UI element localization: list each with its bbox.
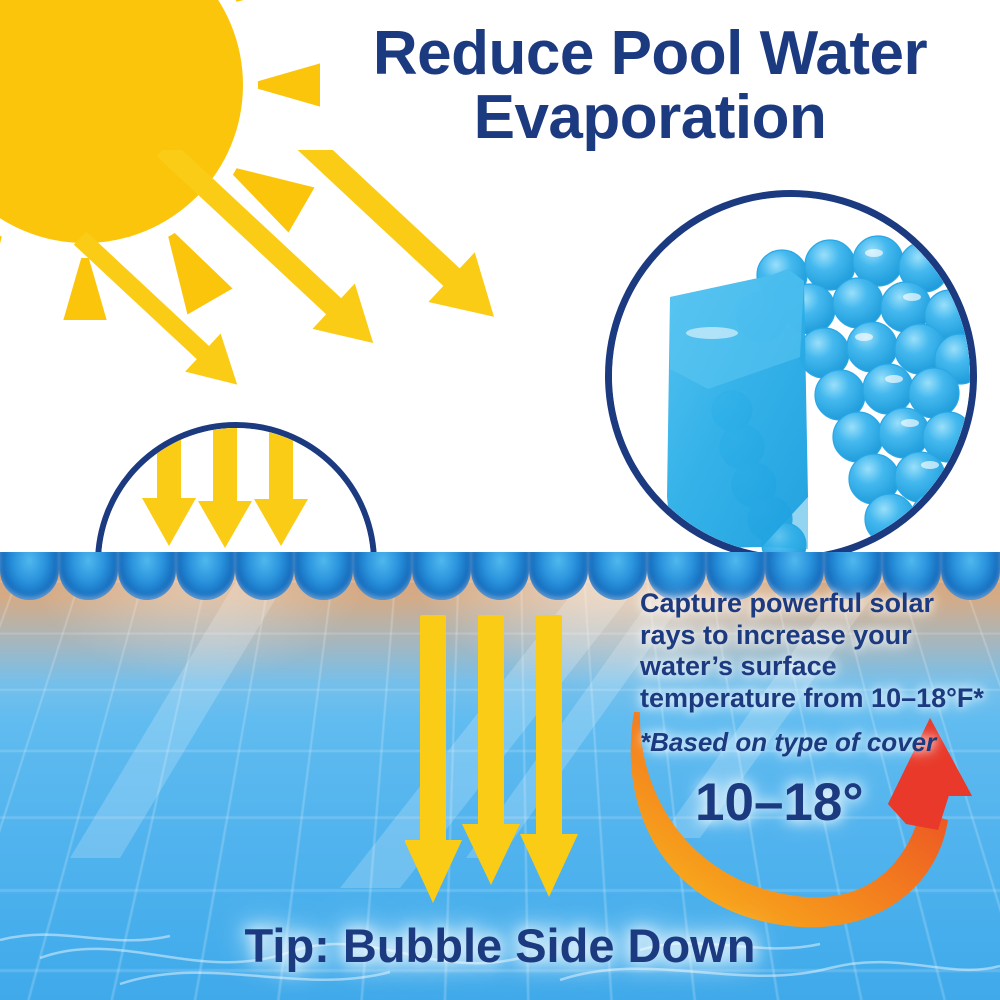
temperature-increase-value: 10–18° (695, 772, 895, 833)
surface-bubble (471, 552, 530, 600)
surface-bubble (0, 552, 59, 600)
surface-bubble (235, 552, 294, 600)
page-title: Reduce Pool Water Evaporation (300, 22, 1000, 151)
surface-bubble (353, 552, 412, 600)
solar-bubble-cover-photo-circle (605, 190, 977, 562)
vertical-heat-down-arrows (405, 615, 605, 915)
surface-bubble (294, 552, 353, 600)
copy-footnote: *Based on type of cover (640, 727, 990, 758)
surface-bubble (412, 552, 471, 600)
page-title-line-1: Reduce Pool Water (373, 19, 927, 88)
tip-banner-text: Tip: Bubble Side Down (0, 918, 1000, 973)
surface-bubble (588, 552, 647, 600)
surface-bubble (529, 552, 588, 600)
surface-bubble (176, 552, 235, 600)
infographic-canvas: Capture powerful solar rays to increase … (0, 0, 1000, 1000)
surface-bubble (118, 552, 177, 600)
surface-bubble (59, 552, 118, 600)
page-title-line-2: Evaporation (300, 86, 1000, 150)
solar-rays-copy-block: Capture powerful solar rays to increase … (640, 588, 990, 758)
copy-main-text: Capture powerful solar rays to increase … (640, 588, 990, 714)
bubble-cover-photo (612, 197, 970, 555)
diagonal-solar-ray-arrows (60, 150, 560, 450)
